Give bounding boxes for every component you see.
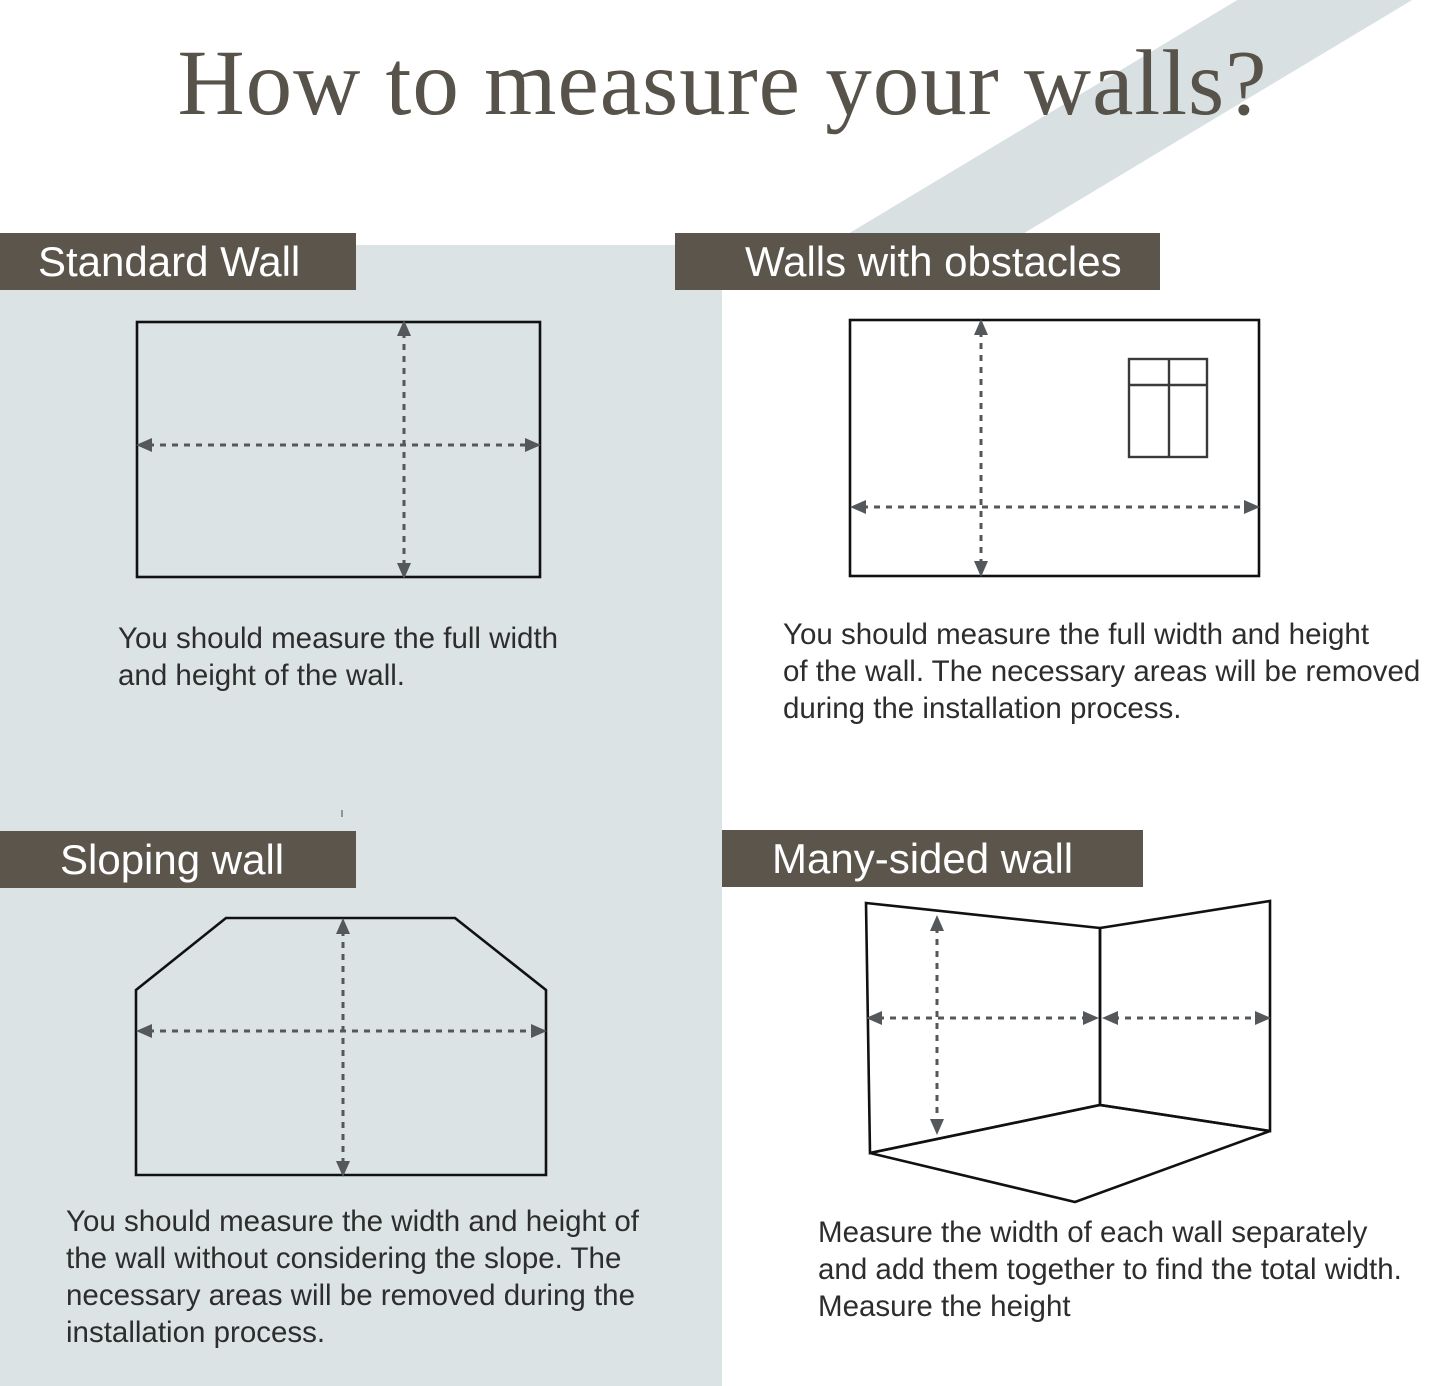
caption-many-sided-wall: Measure the width of each wall separatel… <box>818 1214 1428 1325</box>
section-header-standard-wall: Standard Wall <box>0 233 356 290</box>
left-wall-face <box>866 903 1100 1153</box>
section-header-walls-with-obstacles: Walls with obstacles <box>675 233 1160 290</box>
diagram-many-sided-wall <box>840 885 1310 1210</box>
right-wall-face <box>1100 901 1270 1131</box>
width-dimension-arrow <box>136 438 541 452</box>
diagram-wall-with-obstacles <box>830 300 1290 600</box>
diagram-standard-wall <box>110 300 580 600</box>
diagram-sloping-wall <box>110 890 580 1190</box>
stray-tick-mark <box>341 810 343 817</box>
caption-walls-with-obstacles: You should measure the full width and he… <box>783 616 1423 727</box>
height-dimension-arrow <box>397 320 411 579</box>
page-title: How to measure your walls? <box>0 30 1445 137</box>
sloping-wall-outline <box>136 918 546 1175</box>
infographic-page: How to measure your walls? Standard Wall… <box>0 0 1445 1386</box>
floor-face <box>870 1105 1270 1202</box>
section-header-sloping-wall: Sloping wall <box>0 831 356 888</box>
caption-standard-wall: You should measure the full width and he… <box>118 620 638 694</box>
wall-outline-rect <box>137 322 540 577</box>
height-dimension-arrow <box>974 319 988 577</box>
window-icon <box>1129 359 1207 457</box>
height-dimension-arrow <box>930 915 944 1135</box>
width-dimension-arrow-left-wall <box>866 1011 1099 1025</box>
width-dimension-arrow <box>850 500 1260 514</box>
section-header-many-sided-wall: Many-sided wall <box>722 830 1143 887</box>
width-dimension-arrow-right-wall <box>1102 1011 1271 1025</box>
height-dimension-arrow <box>336 918 350 1177</box>
caption-sloping-wall: You should measure the width and height … <box>66 1203 666 1351</box>
